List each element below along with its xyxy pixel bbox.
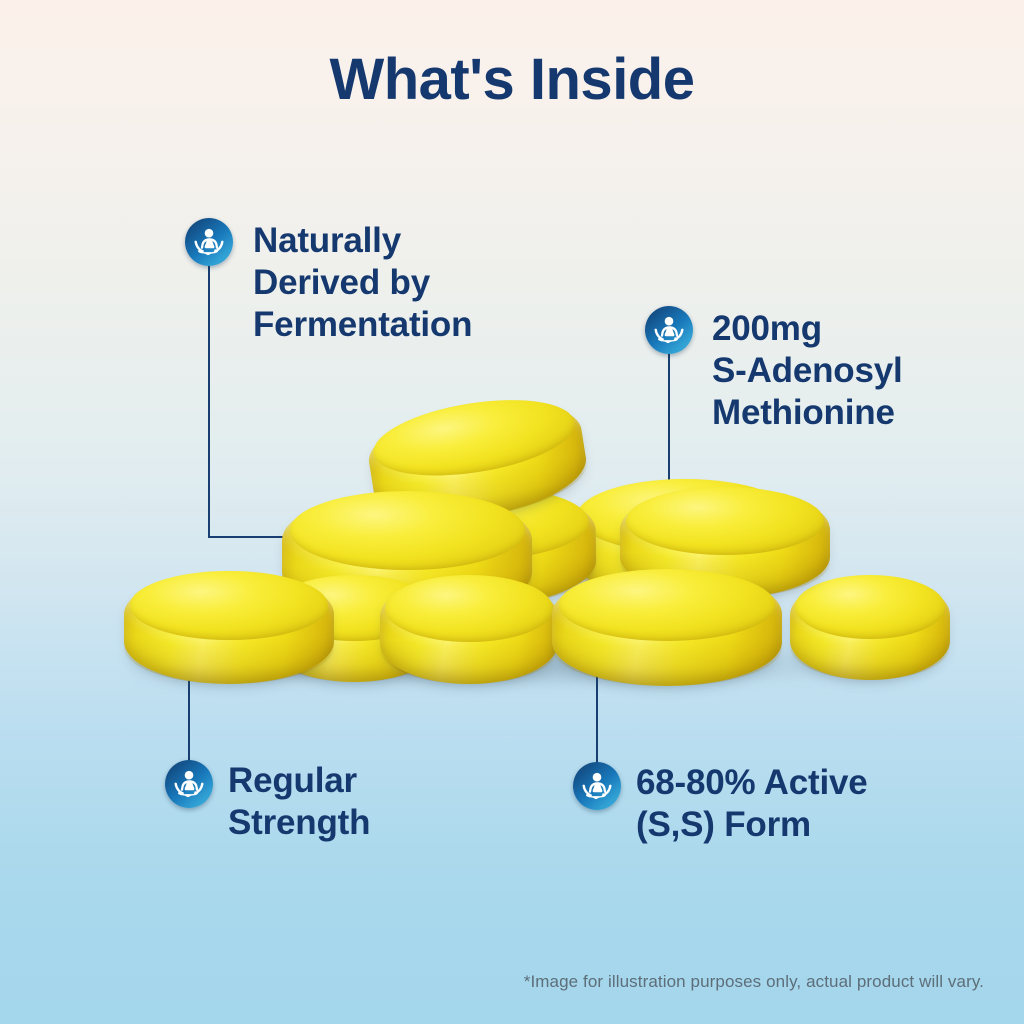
tablet-face xyxy=(130,571,327,640)
tablet-face xyxy=(290,491,525,570)
page-title: What's Inside xyxy=(0,46,1024,113)
callout-text-naturally-derived: Naturally Derived by Fermentation xyxy=(253,220,583,346)
callout-text-active-form: 68-80% Active (S,S) Form xyxy=(636,762,996,846)
meditation-icon-active-form xyxy=(573,762,621,810)
tablet xyxy=(790,576,950,680)
leader-line-naturally-derived-vertical xyxy=(208,262,210,538)
promo-graphic: What's Inside xyxy=(0,0,1024,1024)
tablet-face xyxy=(559,569,775,641)
tablet-face xyxy=(626,487,823,555)
meditation-icon-dosage xyxy=(645,306,693,354)
callout-text-regular-strength: Regular Strength xyxy=(228,760,528,844)
tablet-face xyxy=(795,575,945,639)
tablet xyxy=(124,572,334,684)
meditation-icon-regular-strength xyxy=(165,760,213,808)
tablet xyxy=(552,570,782,686)
tablet-face xyxy=(385,575,552,642)
callout-text-dosage: 200mg S-Adenosyl Methionine xyxy=(712,308,1012,434)
disclaimer-footnote: *Image for illustration purposes only, a… xyxy=(524,972,984,992)
meditation-icon-naturally-derived xyxy=(185,218,233,266)
tablet xyxy=(380,576,558,684)
